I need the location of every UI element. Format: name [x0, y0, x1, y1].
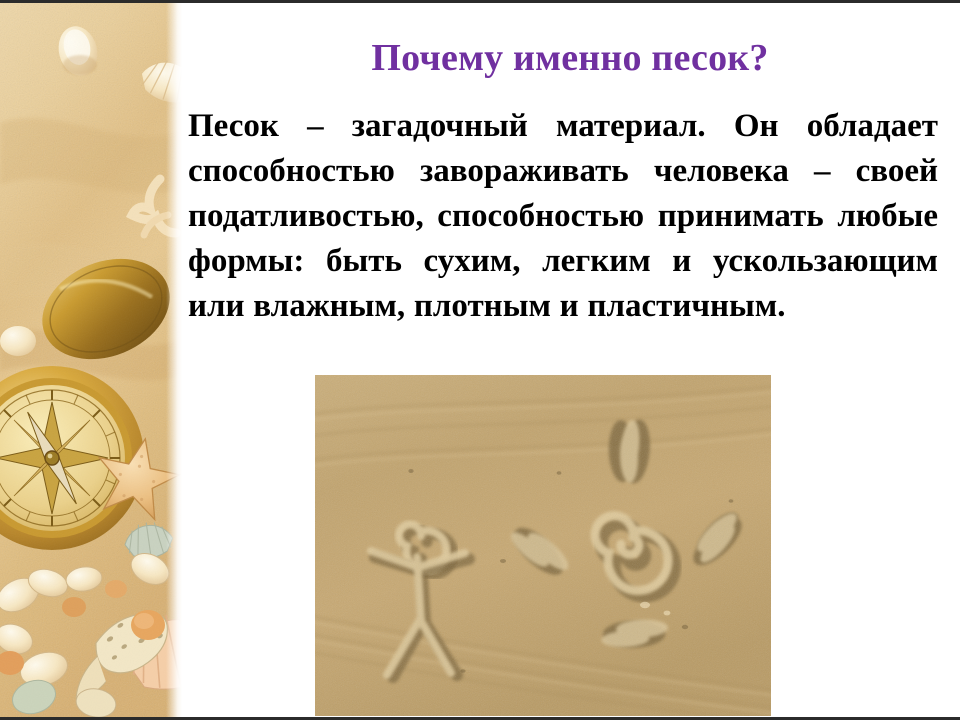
- page-title: Почему именно песок?: [190, 39, 950, 79]
- sand-drawing-photo: [315, 375, 771, 716]
- presentation-slide: Почему именно песок? Песок – загадочный …: [0, 0, 960, 720]
- sidebar-decorative-strip: [0, 3, 182, 720]
- body-paragraph: Песок – загадочный материал. Он обладает…: [188, 104, 938, 329]
